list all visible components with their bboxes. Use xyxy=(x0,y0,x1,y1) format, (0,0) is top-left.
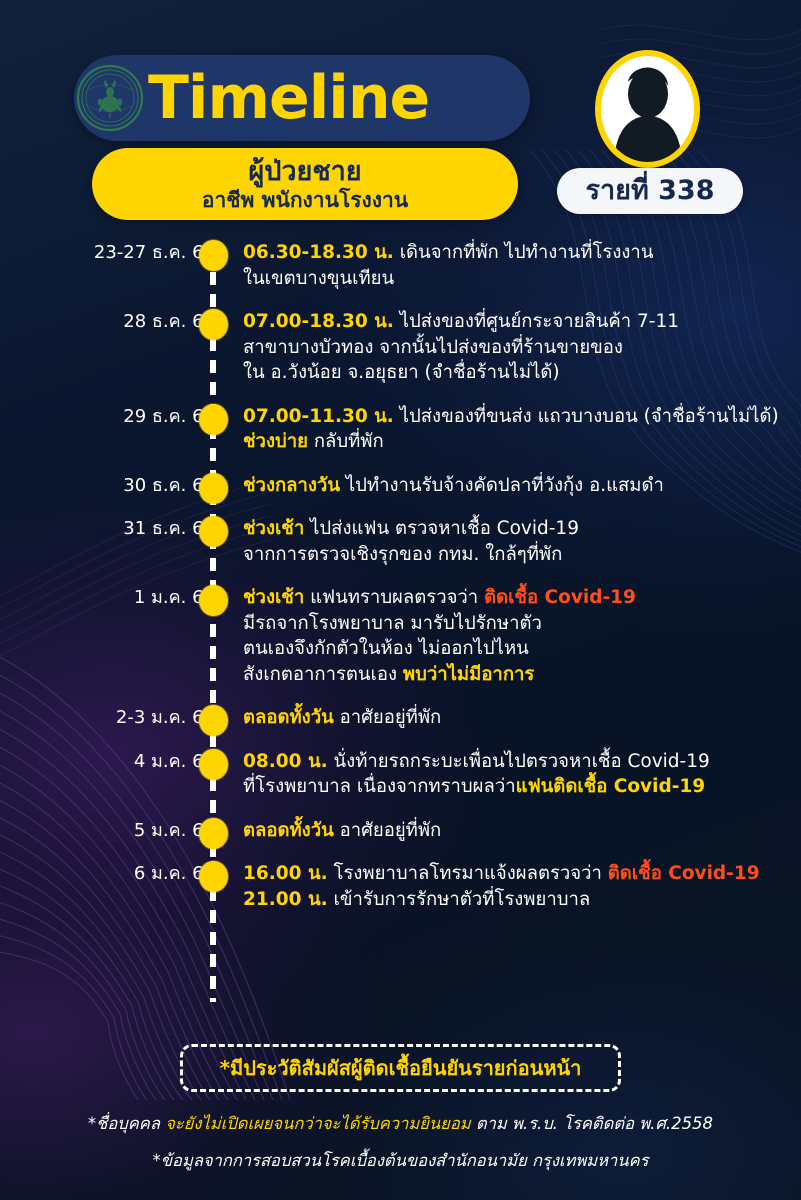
timeline-entry: 29 ธ.ค. 6307.00-11.30 น. ไปส่งของที่ขนส่… xyxy=(0,404,801,455)
timeline-bullet-icon xyxy=(199,818,228,849)
infographic-root: Timeline ผู้ป่วยชาย อาชีพ พนักงานโรงงาน … xyxy=(0,0,801,1200)
timeline-entry-line: ที่โรงพยาบาล เนื่องจากทราบผลว่าแฟนติดเชื… xyxy=(243,774,791,800)
timeline-entry-line: ช่วงเช้า ไปส่งแฟน ตรวจหาเชื้อ Covid-19 xyxy=(243,516,791,542)
timeline-bullet-icon xyxy=(199,585,228,616)
disclaimer-segment: *ชื่อบุคคล xyxy=(88,1114,165,1133)
timeline-entry: 1 ม.ค. 64ช่วงเช้า แฟนทราบผลตรวจว่า ติดเช… xyxy=(0,585,801,687)
timeline-entry-description: 06.30-18.30 น. เดินจากที่พัก ไปทำงานที่โ… xyxy=(243,240,791,291)
patient-occupation: อาชีพ พนักงานโรงงาน xyxy=(202,188,408,213)
timeline-bullet-icon xyxy=(199,749,228,780)
patient-type: ผู้ป่วยชาย xyxy=(248,156,361,187)
timeline-entry: 31 ธ.ค. 63ช่วงเช้า ไปส่งแฟน ตรวจหาเชื้อ … xyxy=(0,516,801,567)
timeline-entry-line: ตนเองจึงกักตัวในห้อง ไม่ออกไปไหน xyxy=(243,636,791,662)
timeline-entry: 28 ธ.ค. 6307.00-18.30 น. ไปส่งของที่ศูนย… xyxy=(0,309,801,386)
timeline-entry-description: ช่วงเช้า แฟนทราบผลตรวจว่า ติดเชื้อ Covid… xyxy=(243,585,791,687)
patient-info-pill: ผู้ป่วยชาย อาชีพ พนักงานโรงงาน xyxy=(92,148,518,220)
timeline-bullet-icon xyxy=(199,705,228,736)
disclaimer-source: *ข้อมูลจากการสอบสวนโรคเบื้องต้นของสำนักอ… xyxy=(0,1150,801,1171)
timeline-entry-line: ช่วงเช้า แฟนทราบผลตรวจว่า ติดเชื้อ Covid… xyxy=(243,585,791,611)
timeline-entry-description: 07.00-11.30 น. ไปส่งของที่ขนส่ง แถวบางบอ… xyxy=(243,404,791,455)
timeline-entry-description: ตลอดทั้งวัน อาศัยอยู่ที่พัก xyxy=(243,818,791,844)
timeline-entry-line: ช่วงกลางวัน ไปทำงานรับจ้างคัดปลาที่วังกุ… xyxy=(243,473,791,499)
timeline-entry-line: 06.30-18.30 น. เดินจากที่พัก ไปทำงานที่โ… xyxy=(243,240,791,266)
timeline-entry: 5 ม.ค. 64ตลอดทั้งวัน อาศัยอยู่ที่พัก xyxy=(0,818,801,844)
bangkok-metropolitan-administration-seal-icon xyxy=(76,64,144,132)
timeline-entry: 4 ม.ค. 6408.00 น. นั่งท้ายรถกระบะเพื่อนไ… xyxy=(0,749,801,800)
avatar xyxy=(595,50,700,168)
timeline-entry-date: 30 ธ.ค. 63 xyxy=(35,475,215,497)
header: Timeline ผู้ป่วยชาย อาชีพ พนักงานโรงงาน … xyxy=(0,0,801,232)
timeline-bullet-icon xyxy=(199,309,228,340)
timeline-entry-line: 08.00 น. นั่งท้ายรถกระบะเพื่อนไปตรวจหาเช… xyxy=(243,749,791,775)
timeline-entry-date: 29 ธ.ค. 63 xyxy=(35,406,215,428)
timeline-entry-date: 28 ธ.ค. 63 xyxy=(35,311,215,333)
contact-history-note-box: *มีประวัติสัมผัสผู้ติดเชื้อยืนยันรายก่อน… xyxy=(180,1044,621,1092)
timeline-entry: 6 ม.ค. 6416.00 น. โรงพยาบาลโทรมาแจ้งผลตร… xyxy=(0,861,801,912)
timeline-entry: 30 ธ.ค. 63ช่วงกลางวัน ไปทำงานรับจ้างคัดป… xyxy=(0,473,801,499)
timeline-entry-date: 31 ธ.ค. 63 xyxy=(35,518,215,540)
timeline-bullet-icon xyxy=(199,404,228,435)
timeline-entry-line: 07.00-18.30 น. ไปส่งของที่ศูนย์กระจายสิน… xyxy=(243,309,791,335)
timeline-entry: 23-27 ธ.ค. 6306.30-18.30 น. เดินจากที่พั… xyxy=(0,240,801,291)
timeline-entry-date: 23-27 ธ.ค. 63 xyxy=(35,242,215,264)
timeline-entry-description: 08.00 น. นั่งท้ายรถกระบะเพื่อนไปตรวจหาเช… xyxy=(243,749,791,800)
timeline-entry-line: ตลอดทั้งวัน อาศัยอยู่ที่พัก xyxy=(243,818,791,844)
timeline-entry-date: 1 ม.ค. 64 xyxy=(35,587,215,609)
timeline-entry-line: จากการตรวจเชิงรุกของ กทม. ใกล้ๆที่พัก xyxy=(243,542,791,568)
timeline-entry-date: 5 ม.ค. 64 xyxy=(35,820,215,842)
timeline-entry-line: ใน อ.วังน้อย จ.อยุธยา (จำชื่อร้านไม่ได้) xyxy=(243,360,791,386)
timeline-entry-description: 07.00-18.30 น. ไปส่งของที่ศูนย์กระจายสิน… xyxy=(243,309,791,386)
timeline-entry-description: ช่วงเช้า ไปส่งแฟน ตรวจหาเชื้อ Covid-19จา… xyxy=(243,516,791,567)
disclaimer-segment: จะยังไม่เปิดเผยจนกว่าจะได้รับความยินยอม xyxy=(165,1114,470,1133)
timeline-entry-date: 4 ม.ค. 64 xyxy=(35,751,215,773)
timeline-entry: 2-3 ม.ค. 64ตลอดทั้งวัน อาศัยอยู่ที่พัก xyxy=(0,705,801,731)
timeline-entry-line: 07.00-11.30 น. ไปส่งของที่ขนส่ง แถวบางบอ… xyxy=(243,404,791,430)
timeline-bullet-icon xyxy=(199,240,228,271)
page-title: Timeline xyxy=(148,61,478,135)
timeline-entry-line: ในเขตบางขุนเทียน xyxy=(243,266,791,292)
disclaimer-privacy: *ชื่อบุคคล จะยังไม่เปิดเผยจนกว่าจะได้รับ… xyxy=(0,1113,801,1134)
timeline-entry-line: มีรถจากโรงพยาบาล มารับไปรักษาตัว xyxy=(243,611,791,637)
timeline-bullet-icon xyxy=(199,861,228,892)
timeline: 23-27 ธ.ค. 6306.30-18.30 น. เดินจากที่พั… xyxy=(0,232,801,1042)
timeline-bullet-icon xyxy=(199,473,228,504)
timeline-entry-date: 2-3 ม.ค. 64 xyxy=(35,707,215,729)
disclaimer-segment: ตาม พ.ร.บ. โรคติดต่อ พ.ศ.2558 xyxy=(471,1114,713,1133)
case-number-pill: รายที่ 338 xyxy=(557,168,743,214)
case-number: รายที่ 338 xyxy=(585,176,714,206)
timeline-entry-line: สังเกตอาการตนเอง พบว่าไม่มีอาการ xyxy=(243,662,791,688)
timeline-entry-line: ตลอดทั้งวัน อาศัยอยู่ที่พัก xyxy=(243,705,791,731)
timeline-bullet-icon xyxy=(199,516,228,547)
timeline-entry-description: 16.00 น. โรงพยาบาลโทรมาแจ้งผลตรวจว่า ติด… xyxy=(243,861,791,912)
timeline-entry-line: ช่วงบ่าย กลับที่พัก xyxy=(243,429,791,455)
timeline-entry-date: 6 ม.ค. 64 xyxy=(35,863,215,885)
timeline-entry-description: ช่วงกลางวัน ไปทำงานรับจ้างคัดปลาที่วังกุ… xyxy=(243,473,791,499)
contact-history-note: *มีประวัติสัมผัสผู้ติดเชื้อยืนยันรายก่อน… xyxy=(220,1056,582,1080)
timeline-entry-line: 16.00 น. โรงพยาบาลโทรมาแจ้งผลตรวจว่า ติด… xyxy=(243,861,791,887)
timeline-entry-description: ตลอดทั้งวัน อาศัยอยู่ที่พัก xyxy=(243,705,791,731)
timeline-entry-line: 21.00 น. เข้ารับการรักษาตัวที่โรงพยาบาล xyxy=(243,887,791,913)
timeline-entry-line: สาขาบางบัวทอง จากนั้นไปส่งของที่ร้านขายข… xyxy=(243,335,791,361)
